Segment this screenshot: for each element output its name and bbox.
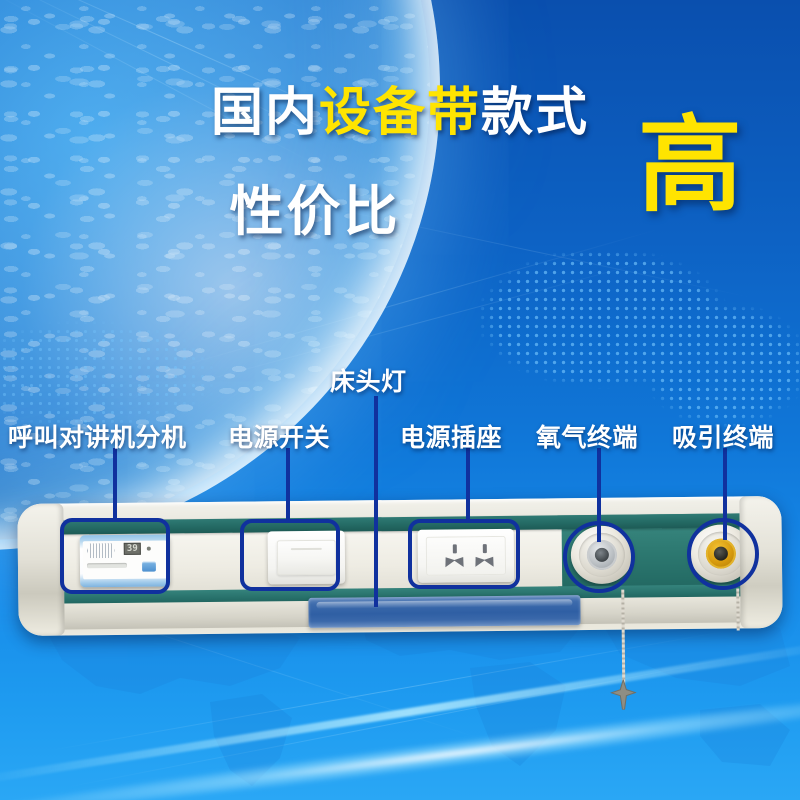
label-nurse-call-intercom: 呼叫对讲机分机 (8, 418, 187, 454)
label-power-socket: 电源插座 (400, 418, 502, 454)
label-power-switch: 电源开关 (228, 418, 330, 454)
label-bed-lamp: 床头灯 (330, 362, 407, 398)
label-suction-terminal: 吸引终端 (672, 418, 774, 454)
label-oxygen-terminal: 氧气终端 (536, 418, 638, 454)
callout-label-layer: 呼叫对讲机分机 电源开关 床头灯 电源插座 氧气终端 吸引终端 (0, 0, 800, 800)
promo-banner: 国内设备带款式 性价比 高 呼叫对讲机分机 电源开关 床头灯 电源插座 氧气终端… (0, 0, 800, 800)
